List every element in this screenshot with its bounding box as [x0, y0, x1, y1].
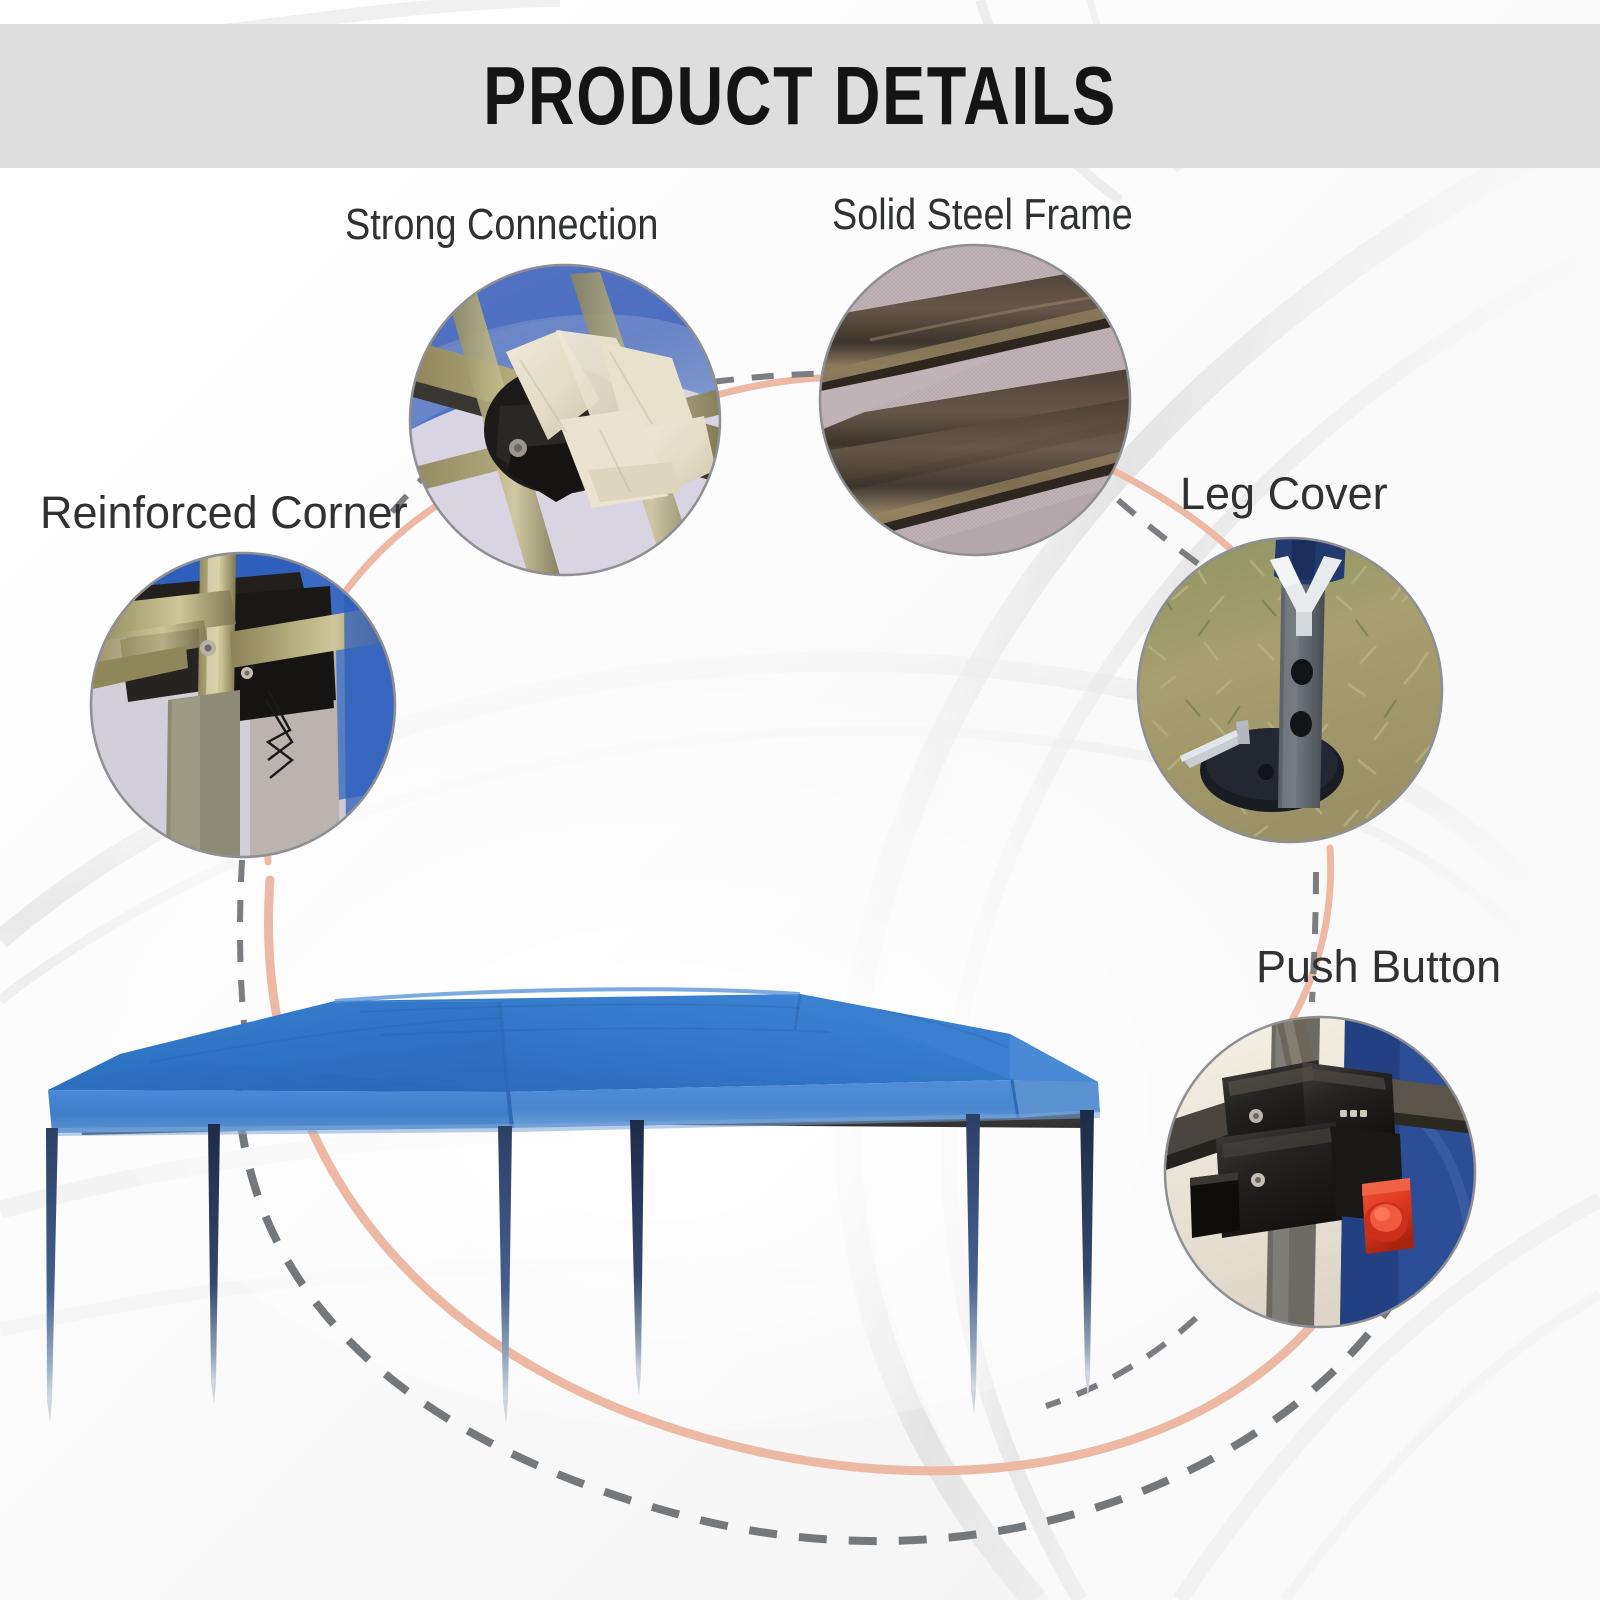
gazebo-product-image [46, 989, 1100, 1424]
connector-lines-group [0, 0, 1600, 1600]
detail-circle-leg-cover [1138, 538, 1442, 842]
detail-circle-solid-steel-frame [816, 245, 1134, 555]
callout-label-strong-connection: Strong Connection [345, 200, 658, 250]
callout-label-leg-cover: Leg Cover [1180, 468, 1388, 520]
detail-circle-reinforced-corner [86, 552, 398, 858]
product-artwork-group [0, 0, 1600, 1600]
page-title: PRODUCT DETAILS [176, 24, 1424, 168]
detail-circle-push-button [1165, 1017, 1475, 1327]
callout-label-reinforced-corner: Reinforced Corner [40, 487, 408, 539]
detail-circle-strong-connection [400, 265, 730, 575]
callout-label-push-button: Push Button [1256, 941, 1501, 993]
background-swirl-backdrop [0, 0, 1600, 1600]
bottom-dashed-arc [238, 1070, 1394, 1541]
peach-accent-arc [268, 377, 1352, 1471]
callout-label-solid-steel-frame: Solid Steel Frame [832, 190, 1133, 240]
product-details-infographic: PRODUCT DETAILS Strong Connection Solid … [0, 0, 1600, 1600]
